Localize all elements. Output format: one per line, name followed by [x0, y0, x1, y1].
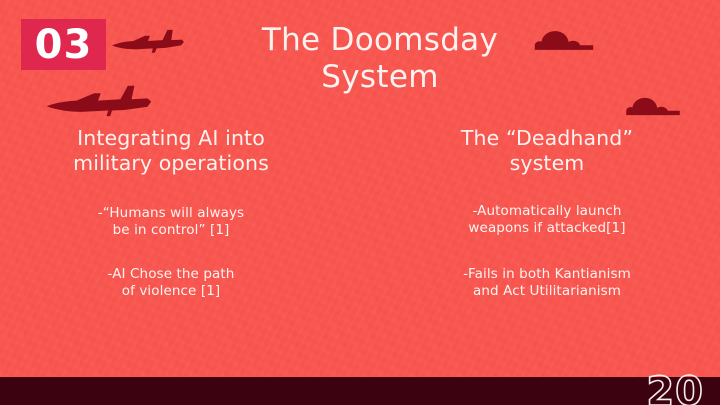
presentation-slide: 03 The Doomsday System Integrating AI in…: [0, 0, 720, 405]
section-number-label: 03: [35, 25, 93, 65]
column-right-bullet-2: -Fails in both Kantianism and Act Utilit…: [382, 266, 712, 301]
column-right-bullet-1: -Automatically launch weapons if attacke…: [382, 203, 712, 238]
column-left-bullet-2-line-2: of violence [1]: [6, 283, 336, 300]
fighter-jet-icon: [38, 82, 158, 124]
slide-title-line-1: The Doomsday: [170, 22, 590, 59]
column-left-heading-line-2: military operations: [6, 151, 336, 176]
column-right-bullet-1-line-1: -Automatically launch: [382, 203, 712, 220]
column-left-bullet-1-line-1: -“Humans will always: [6, 205, 336, 222]
section-number-badge: 03: [21, 19, 106, 70]
column-left-heading-line-1: Integrating AI into: [6, 126, 336, 151]
column-right-bullet-2-line-1: -Fails in both Kantianism: [382, 266, 712, 283]
column-right-heading: The “Deadhand” system: [382, 126, 712, 176]
cloud-icon: [624, 95, 682, 117]
content-column-left: Integrating AI into military operations …: [6, 126, 336, 300]
page-number-label: 20: [646, 372, 704, 405]
slide-title-line-2: System: [170, 59, 590, 96]
column-left-heading: Integrating AI into military operations: [6, 126, 336, 176]
column-right-heading-line-2: system: [382, 151, 712, 176]
column-right-bullet-1-line-2: weapons if attacked[1]: [382, 220, 712, 237]
column-left-bullet-2-line-1: -AI Chose the path: [6, 266, 336, 283]
column-right-bullet-2-line-2: and Act Utilitarianism: [382, 283, 712, 300]
column-left-bullet-1: -“Humans will always be in control” [1]: [6, 205, 336, 240]
slide-footer-bar: 20: [0, 377, 720, 405]
column-left-bullet-2: -AI Chose the path of violence [1]: [6, 266, 336, 301]
content-column-right: The “Deadhand” system -Automatically lau…: [382, 126, 712, 300]
slide-title: The Doomsday System: [170, 22, 590, 95]
column-left-bullet-1-line-2: be in control” [1]: [6, 222, 336, 239]
column-right-heading-line-1: The “Deadhand”: [382, 126, 712, 151]
